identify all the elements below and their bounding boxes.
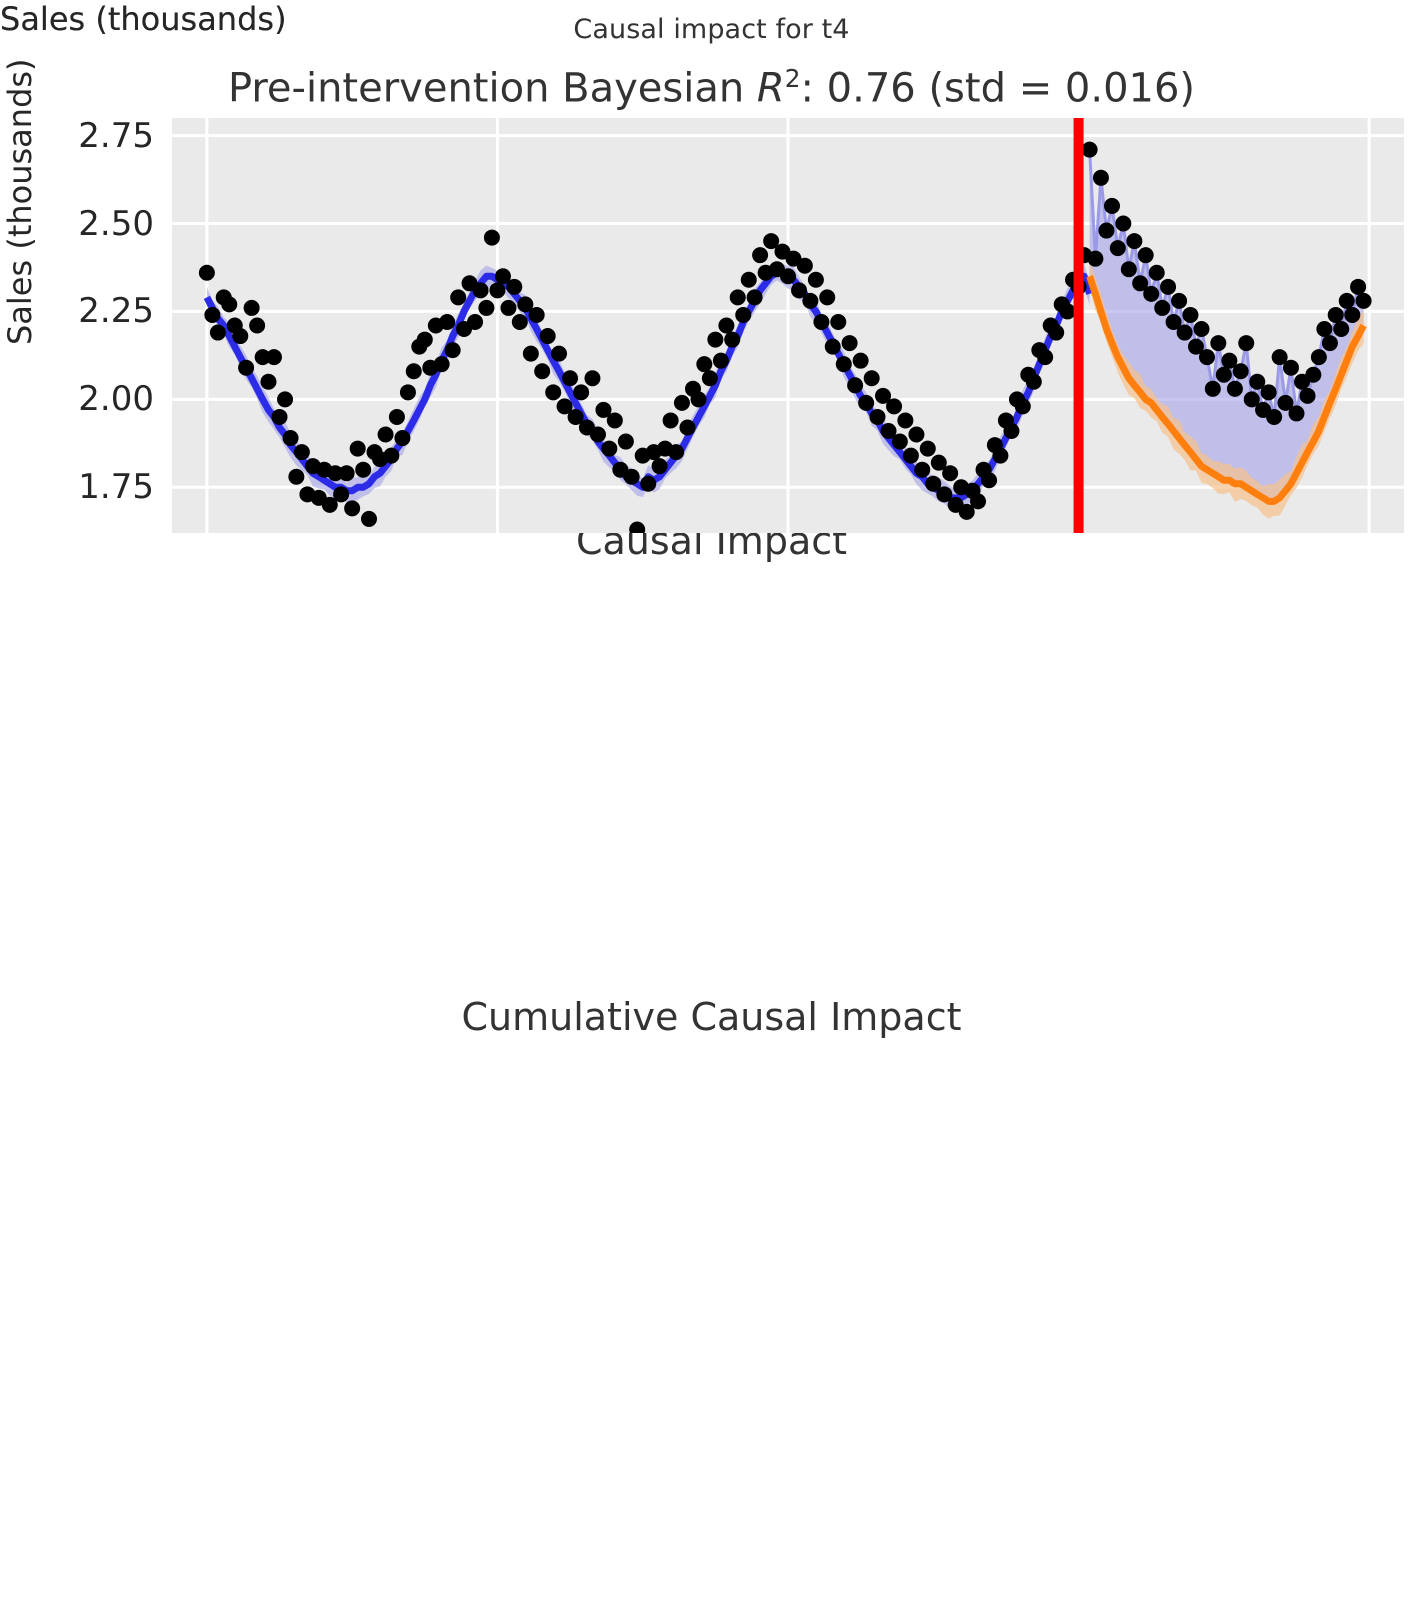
figure-root: Causal impact for t4 Pre-intervention Ba… [0, 0, 1423, 1623]
title-suffix: : 0.76 (std = 0.016) [800, 65, 1195, 111]
title-exponent: 2 [785, 64, 801, 93]
y-tick-top-3: 2.50 [0, 204, 154, 244]
y-tick-top-1: 2.00 [0, 379, 154, 419]
title-r-symbol: R [757, 65, 785, 111]
page-title: Pre-intervention Bayesian R2: 0.76 (std … [0, 64, 1423, 111]
intervention-line [1074, 118, 1084, 533]
y-tick-top-2: 2.25 [0, 291, 154, 331]
plot-area-top [172, 118, 1404, 533]
y-tick-top-4: 2.75 [0, 116, 154, 156]
y-tick-top-0: 1.75 [0, 467, 154, 507]
panel-title-cumulative-causal-impact: Cumulative Causal Impact [0, 995, 1423, 1039]
title-prefix: Pre-intervention Bayesian [228, 65, 757, 111]
chart-panel-middle[interactable] [172, 604, 1404, 975]
chart-panel-top[interactable] [172, 118, 1404, 533]
y-axis-label-bottom: Sales (thousands) [0, 0, 287, 38]
